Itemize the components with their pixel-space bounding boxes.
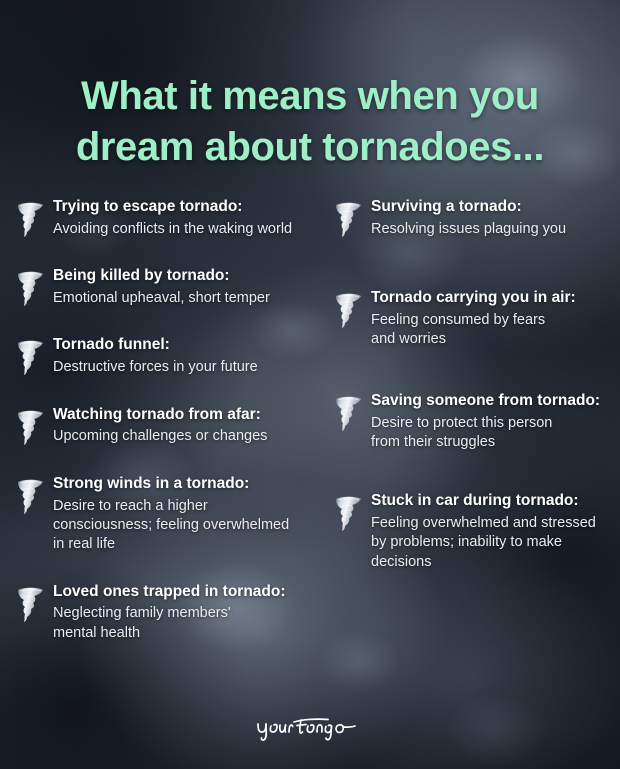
list-item-text: Being killed by tornado: Emotional uphea…: [53, 267, 324, 308]
list-item-title: Surviving a tornado:: [371, 198, 620, 217]
tornado-dream-infographic: What it means when you dream about torna…: [0, 0, 620, 769]
list-item-title: Stuck in car during tornado:: [371, 492, 620, 511]
list-item-title: Watching tornado from afar:: [53, 406, 324, 425]
list-item-text: Saving someone from tornado: Desire to p…: [371, 392, 620, 452]
list-item-text: Surviving a tornado: Resolving issues pl…: [371, 198, 620, 239]
tornado-icon: [332, 199, 364, 239]
list-item-title: Trying to escape tornado:: [53, 198, 324, 217]
list-item-description: Feeling overwhelmed and stressed by prob…: [371, 514, 620, 572]
title-line-1: What it means when you: [26, 71, 594, 122]
tornado-icon: [14, 407, 46, 447]
tornado-icon: [332, 290, 364, 330]
list-item-text: Watching tornado from afar: Upcoming cha…: [53, 406, 324, 447]
tornado-icon: [332, 493, 364, 533]
list-item-text: Tornado funnel: Destructive forces in yo…: [53, 336, 324, 377]
list-item-description: Feeling consumed by fears and worries: [371, 311, 620, 350]
tornado-icon: [14, 199, 46, 239]
entry-columns: Trying to escape tornado: Avoiding confl…: [0, 198, 620, 671]
page-title: What it means when you dream about torna…: [0, 71, 620, 173]
yourtango-logo-mark: [254, 712, 366, 742]
list-item: Saving someone from tornado: Desire to p…: [332, 392, 620, 452]
list-item-title: Being killed by tornado:: [53, 267, 324, 286]
tornado-icon: [14, 584, 46, 624]
list-item: Watching tornado from afar: Upcoming cha…: [14, 406, 324, 447]
list-item: Tornado funnel: Destructive forces in yo…: [14, 336, 324, 377]
list-item-description: Upcoming challenges or changes: [53, 427, 324, 446]
list-item-description: Desire to reach a higher consciousness; …: [53, 497, 324, 555]
tornado-icon: [14, 268, 46, 308]
list-item-text: Loved ones trapped in tornado: Neglectin…: [53, 583, 324, 643]
list-item-text: Tornado carrying you in air: Feeling con…: [371, 289, 620, 349]
list-item-text: Strong winds in a tornado: Desire to rea…: [53, 475, 324, 555]
list-item: Strong winds in a tornado: Desire to rea…: [14, 475, 324, 555]
list-item: Being killed by tornado: Emotional uphea…: [14, 267, 324, 308]
infographic-content: What it means when you dream about torna…: [0, 0, 620, 769]
list-item: Stuck in car during tornado: Feeling ove…: [332, 492, 620, 572]
list-item-title: Strong winds in a tornado:: [53, 475, 324, 494]
list-item-text: Stuck in car during tornado: Feeling ove…: [371, 492, 620, 572]
list-item: Surviving a tornado: Resolving issues pl…: [332, 198, 620, 239]
list-item-title: Tornado carrying you in air:: [371, 289, 620, 308]
tornado-icon: [14, 476, 46, 516]
list-item: Loved ones trapped in tornado: Neglectin…: [14, 583, 324, 643]
left-column: Trying to escape tornado: Avoiding confl…: [0, 198, 324, 671]
list-item-title: Tornado funnel:: [53, 336, 324, 355]
list-item-description: Emotional upheaval, short temper: [53, 289, 324, 308]
list-item-title: Saving someone from tornado:: [371, 392, 620, 411]
yourtango-logo[interactable]: [0, 712, 620, 747]
list-item-description: Desire to protect this person from their…: [371, 414, 620, 453]
list-item-description: Resolving issues plaguing you: [371, 220, 620, 239]
list-item-description: Destructive forces in your future: [53, 358, 324, 377]
list-item-text: Trying to escape tornado: Avoiding confl…: [53, 198, 324, 239]
list-item: Trying to escape tornado: Avoiding confl…: [14, 198, 324, 239]
tornado-icon: [332, 393, 364, 433]
tornado-icon: [14, 337, 46, 377]
list-item-description: Neglecting family members' mental health: [53, 604, 324, 643]
title-line-2: dream about tornadoes...: [26, 122, 594, 173]
list-item-description: Avoiding conflicts in the waking world: [53, 220, 324, 239]
right-column: Surviving a tornado: Resolving issues pl…: [324, 198, 620, 600]
list-item-title: Loved ones trapped in tornado:: [53, 583, 324, 602]
list-item: Tornado carrying you in air: Feeling con…: [332, 289, 620, 349]
